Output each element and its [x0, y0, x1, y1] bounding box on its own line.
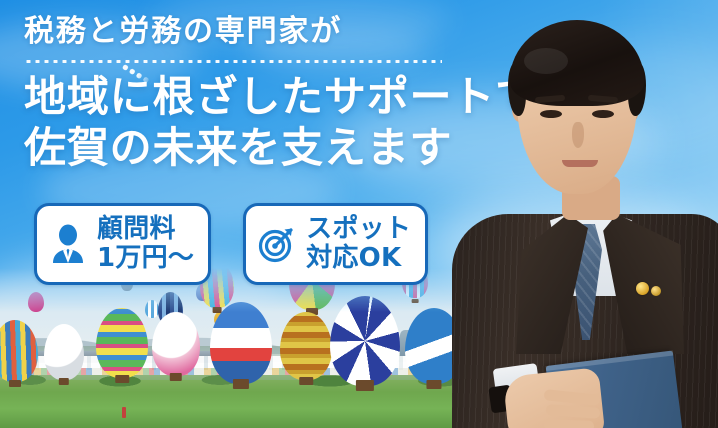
badge-consulting-fee-line-2: 1万円〜 — [97, 244, 194, 273]
hot-air-balloon — [152, 312, 200, 376]
headline-line-1: 税務と労務の専門家が — [24, 12, 494, 53]
nose — [572, 122, 584, 148]
hot-air-balloon — [44, 324, 84, 380]
businessman-icon — [48, 222, 88, 266]
badge-spot-support[interactable]: スポット 対応OK — [243, 203, 428, 285]
dotted-divider-line — [24, 60, 442, 63]
target-arrow-icon — [257, 222, 297, 266]
headline-line-2: 地域に根ざしたサポートで — [24, 71, 494, 122]
hot-air-balloon — [28, 292, 44, 312]
dotted-divider — [24, 55, 494, 69]
hot-air-balloon — [210, 302, 272, 384]
businessman-portrait — [458, 0, 718, 428]
badge-spot-support-line-2: 対応OK — [306, 244, 411, 273]
lapel-pin-icon — [651, 286, 661, 296]
hot-air-balloon — [0, 320, 38, 382]
hot-air-balloon — [280, 312, 332, 380]
mouth — [562, 160, 598, 167]
eye-right — [592, 110, 614, 118]
badge-consulting-fee-line-1: 顧問料 — [97, 214, 176, 244]
hot-air-balloon — [96, 308, 148, 378]
feature-badge-list: 顧問料 1万円〜 スポット 対応OK — [34, 203, 428, 285]
hair — [510, 20, 644, 106]
hot-air-balloon — [330, 296, 400, 386]
badge-consulting-fee[interactable]: 顧問料 1万円〜 — [34, 203, 211, 285]
badge-spot-support-text: スポット 対応OK — [306, 215, 411, 273]
badge-consulting-fee-text: 顧問料 1万円〜 — [97, 215, 194, 273]
badge-spot-support-line-1: スポット — [306, 214, 411, 244]
eye-left — [540, 110, 562, 118]
lapel-pin-icon — [636, 282, 649, 295]
hero-banner: 税務と労務の専門家が 地域に根ざしたサポートで 佐賀の未来を支えます 顧問料 1… — [0, 0, 718, 428]
headline-block: 税務と労務の専門家が 地域に根ざしたサポートで 佐賀の未来を支えます — [24, 12, 494, 173]
headline-line-3: 佐賀の未来を支えます — [24, 122, 494, 173]
finger — [544, 419, 594, 428]
distant-person — [122, 407, 126, 418]
